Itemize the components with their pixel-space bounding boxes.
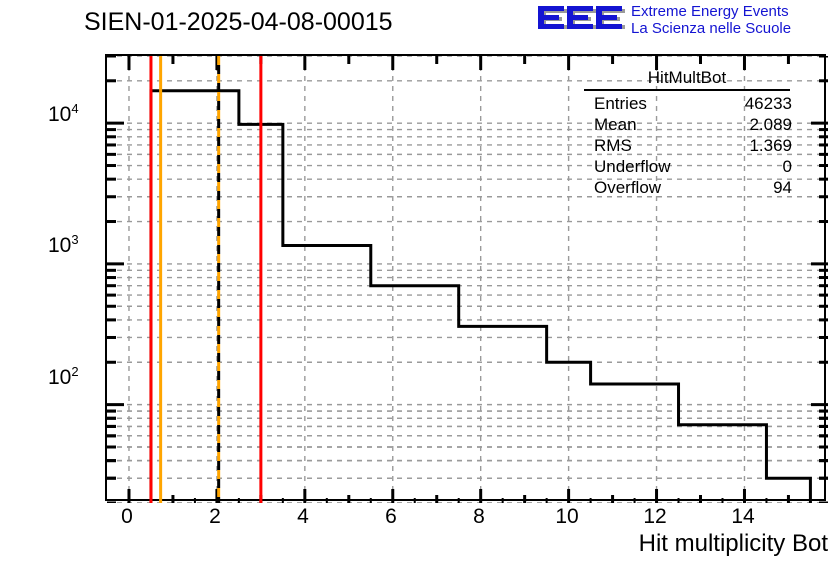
x-tick-8: 8 [473,505,485,529]
x-tick-0: 0 [121,505,133,529]
x-tick-4: 4 [297,505,309,529]
stats-row-mean: Mean 2.089 [576,114,798,135]
stats-value-underflow: 0 [783,156,792,177]
stats-row-entries: Entries 46233 [576,93,798,114]
stats-key-entries: Entries [594,93,647,114]
eee-logo-mark [537,3,627,35]
y-tick-1e3: 103 [48,232,79,258]
x-tick-6: 6 [385,505,397,529]
stats-title: HitMultBot [576,68,798,89]
stats-row-rms: RMS 1.369 [576,135,798,156]
eee-logo-line2: La Scienza nelle Scuole [631,20,791,37]
x-tick-12: 12 [643,505,666,529]
eee-logo: Extreme Energy Events La Scienza nelle S… [537,2,832,40]
page-title: SIEN-01-2025-04-08-00015 [84,8,393,37]
stats-key-underflow: Underflow [594,156,671,177]
stats-box: HitMultBot Entries 46233 Mean 2.089 RMS … [576,68,798,198]
stats-value-entries: 46233 [745,93,792,114]
y-tick-1e4: 104 [48,101,79,127]
x-tick-14: 14 [731,505,754,529]
root-canvas: SIEN-01-2025-04-08-00015 [0,0,836,572]
stats-row-underflow: Underflow 0 [576,156,798,177]
stats-divider [584,89,790,91]
x-tick-2: 2 [209,505,221,529]
x-axis-title: Hit multiplicity Bot [639,530,828,558]
stats-key-rms: RMS [594,135,632,156]
eee-logo-line1: Extreme Energy Events [631,3,791,20]
x-tick-10: 10 [555,505,578,529]
stats-key-overflow: Overflow [594,177,661,198]
y-tick-1e2: 102 [48,364,79,390]
stats-value-overflow: 94 [773,177,792,198]
stats-key-mean: Mean [594,114,637,135]
stats-row-overflow: Overflow 94 [576,177,798,198]
stats-value-mean: 2.089 [749,114,792,135]
eee-logo-text: Extreme Energy Events La Scienza nelle S… [631,3,791,37]
stats-value-rms: 1.369 [749,135,792,156]
